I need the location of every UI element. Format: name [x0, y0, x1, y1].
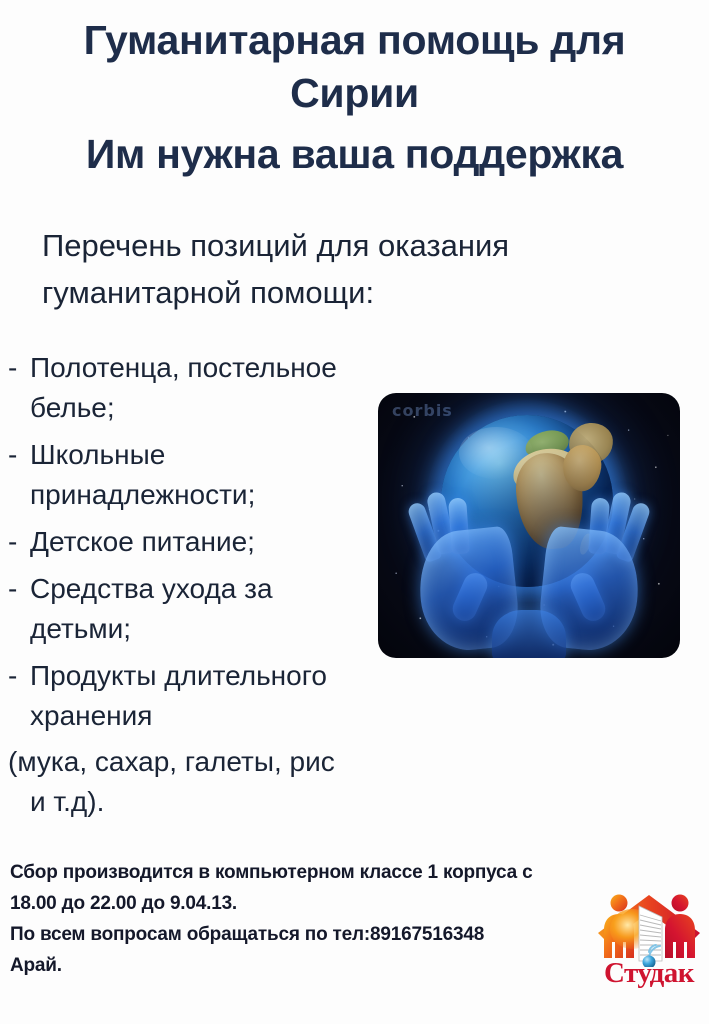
- list-item-line: хранения: [30, 696, 408, 736]
- list-item-line: Детское питание;: [30, 522, 408, 562]
- poster-title: Гуманитарная помощь для Сирии Им нужна в…: [0, 14, 709, 181]
- studak-logo-wordmark: Студак: [592, 957, 706, 990]
- list-bullet-dash: -: [8, 656, 17, 696]
- list-item-line: Полотенца, постельное: [30, 348, 408, 388]
- list-item-line: Средства ухода за: [30, 569, 408, 609]
- poster-footer: Сбор производится в компьютерном классе …: [10, 857, 600, 981]
- list-bullet-dash: -: [8, 522, 17, 562]
- list-item-line: Продукты длительного: [30, 656, 408, 696]
- footer-line-4-contact-name: Арай.: [10, 950, 600, 981]
- footer-line-1: Сбор производится в компьютерном классе …: [10, 857, 600, 888]
- list-item: - Полотенца, постельное белье;: [8, 348, 408, 428]
- title-line-1: Гуманитарная помощь для: [0, 14, 709, 67]
- list-bullet-dash: -: [8, 435, 17, 475]
- list-bullet-dash: -: [8, 569, 17, 609]
- footer-line-2: 18.00 до 22.00 до 9.04.13.: [10, 888, 600, 919]
- list-item: - Школьные принадлежности;: [8, 435, 408, 515]
- subtitle-line-1: Перечень позиций для оказания: [42, 222, 662, 269]
- list-item-line: принадлежности;: [30, 475, 408, 515]
- needed-items-list: - Полотенца, постельное белье; - Школьны…: [8, 348, 408, 743]
- poster-root: Гуманитарная помощь для Сирии Им нужна в…: [0, 0, 709, 1024]
- studak-logo: Студак: [592, 893, 706, 1005]
- subtitle-line-2: гуманитарной помощи:: [42, 269, 662, 316]
- title-line-2: Сирии: [0, 67, 709, 120]
- paren-note-line-1: (мука, сахар, галеты, рис: [8, 746, 335, 777]
- studak-logo-mark-icon: [592, 893, 706, 967]
- list-item: - Средства ухода за детьми;: [8, 569, 408, 649]
- list-item-line: белье;: [30, 388, 408, 428]
- wrist: [492, 610, 566, 658]
- list-item-line: Школьные: [30, 435, 408, 475]
- list-item-line: детьми;: [30, 609, 408, 649]
- poster-subtitle: Перечень позиций для оказания гуманитарн…: [42, 222, 662, 316]
- paren-note-line-2: и т.д).: [8, 782, 418, 822]
- photo-watermark: corbis: [392, 401, 453, 420]
- hands-holding-earth-image: corbis: [378, 393, 680, 658]
- list-item: - Продукты длительного хранения: [8, 656, 408, 736]
- list-item: - Детское питание;: [8, 522, 408, 562]
- items-parenthetical-note: (мука, сахар, галеты, рис и т.д).: [8, 742, 418, 822]
- list-bullet-dash: -: [8, 348, 17, 388]
- footer-line-3-contact: По всем вопросам обращаться по тел:89167…: [10, 919, 600, 950]
- title-line-3: Им нужна ваша поддержка: [0, 128, 709, 181]
